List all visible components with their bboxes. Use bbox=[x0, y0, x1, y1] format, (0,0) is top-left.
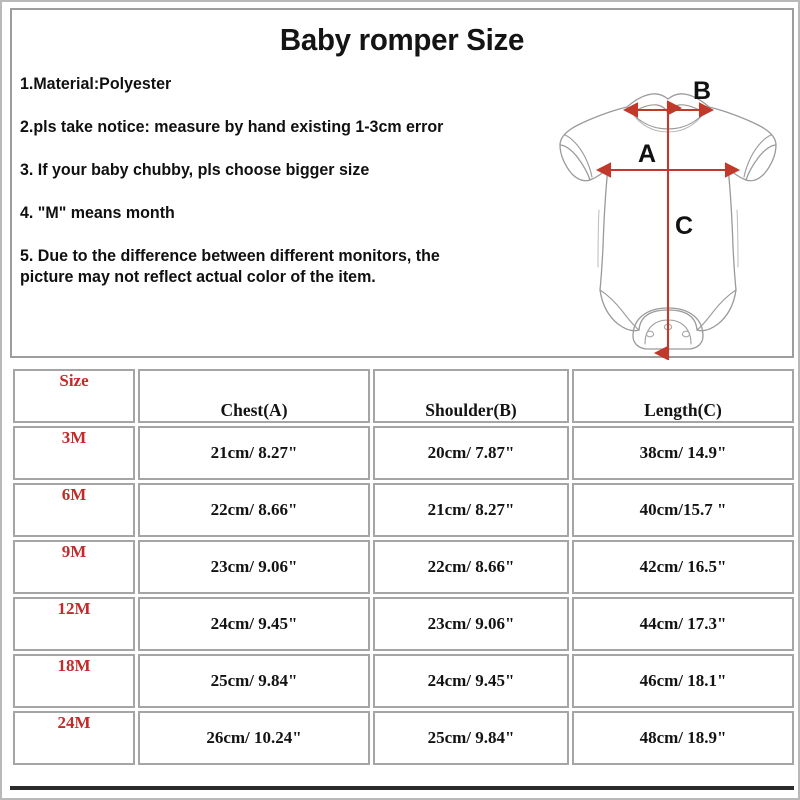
cell-shoulder: 24cm/ 9.45" bbox=[373, 654, 569, 708]
cell-length: 44cm/ 17.3" bbox=[572, 597, 794, 651]
table-row: 9M 23cm/ 9.06" 22cm/ 8.66" 42cm/ 16.5" bbox=[13, 540, 794, 594]
table-header-row: Size Chest(A) Shoulder(B) Length(C) bbox=[13, 369, 794, 423]
cell-size: 3M bbox=[13, 426, 135, 480]
cell-size: 12M bbox=[13, 597, 135, 651]
cell-size: 6M bbox=[13, 483, 135, 537]
cell-length: 38cm/ 14.9" bbox=[572, 426, 794, 480]
cell-chest: 25cm/ 9.84" bbox=[138, 654, 370, 708]
cell-size: 9M bbox=[13, 540, 135, 594]
measure-arrows bbox=[610, 108, 726, 353]
table-row: 12M 24cm/ 9.45" 23cm/ 9.06" 44cm/ 17.3" bbox=[13, 597, 794, 651]
cell-shoulder: 21cm/ 8.27" bbox=[373, 483, 569, 537]
size-chart-sheet: Baby romper Size 1.Material:Polyester 2.… bbox=[0, 0, 800, 800]
cell-shoulder: 23cm/ 9.06" bbox=[373, 597, 569, 651]
cell-size: 24M bbox=[13, 711, 135, 765]
column-header-chest: Chest(A) bbox=[138, 369, 370, 423]
cell-size: 18M bbox=[13, 654, 135, 708]
page-title: Baby romper Size bbox=[32, 22, 773, 58]
size-table: Size Chest(A) Shoulder(B) Length(C) 3M 2… bbox=[10, 366, 797, 768]
cell-chest: 23cm/ 9.06" bbox=[138, 540, 370, 594]
table-row: 3M 21cm/ 8.27" 20cm/ 7.87" 38cm/ 14.9" bbox=[13, 426, 794, 480]
note-item: 1.Material:Polyester bbox=[20, 74, 524, 95]
romper-diagram: B A C bbox=[532, 62, 800, 360]
note-item: 4. "M" means month bbox=[20, 203, 524, 224]
info-panel: Baby romper Size 1.Material:Polyester 2.… bbox=[10, 8, 794, 358]
cell-shoulder: 22cm/ 8.66" bbox=[373, 540, 569, 594]
size-table-container: Size Chest(A) Shoulder(B) Length(C) 3M 2… bbox=[10, 366, 794, 790]
cell-shoulder: 25cm/ 9.84" bbox=[373, 711, 569, 765]
column-header-shoulder: Shoulder(B) bbox=[373, 369, 569, 423]
diagram-label-c: C bbox=[675, 212, 693, 240]
column-header-size: Size bbox=[13, 369, 135, 423]
note-item: 3. If your baby chubby, pls choose bigge… bbox=[20, 160, 524, 181]
column-header-length: Length(C) bbox=[572, 369, 794, 423]
cell-chest: 22cm/ 8.66" bbox=[138, 483, 370, 537]
cell-length: 48cm/ 18.9" bbox=[572, 711, 794, 765]
cell-length: 46cm/ 18.1" bbox=[572, 654, 794, 708]
notes-list: 1.Material:Polyester 2.pls take notice: … bbox=[20, 74, 540, 288]
cell-length: 40cm/15.7 " bbox=[572, 483, 794, 537]
cell-chest: 21cm/ 8.27" bbox=[138, 426, 370, 480]
table-row: 24M 26cm/ 10.24" 25cm/ 9.84" 48cm/ 18.9" bbox=[13, 711, 794, 765]
cell-length: 42cm/ 16.5" bbox=[572, 540, 794, 594]
note-item: 5. Due to the difference between differe… bbox=[20, 246, 524, 288]
table-row: 6M 22cm/ 8.66" 21cm/ 8.27" 40cm/15.7 " bbox=[13, 483, 794, 537]
diagram-label-b: B bbox=[693, 77, 711, 105]
cell-shoulder: 20cm/ 7.87" bbox=[373, 426, 569, 480]
note-item: 2.pls take notice: measure by hand exist… bbox=[20, 117, 524, 138]
table-row: 18M 25cm/ 9.84" 24cm/ 9.45" 46cm/ 18.1" bbox=[13, 654, 794, 708]
cell-chest: 24cm/ 9.45" bbox=[138, 597, 370, 651]
diagram-label-a: A bbox=[638, 140, 656, 168]
cell-chest: 26cm/ 10.24" bbox=[138, 711, 370, 765]
